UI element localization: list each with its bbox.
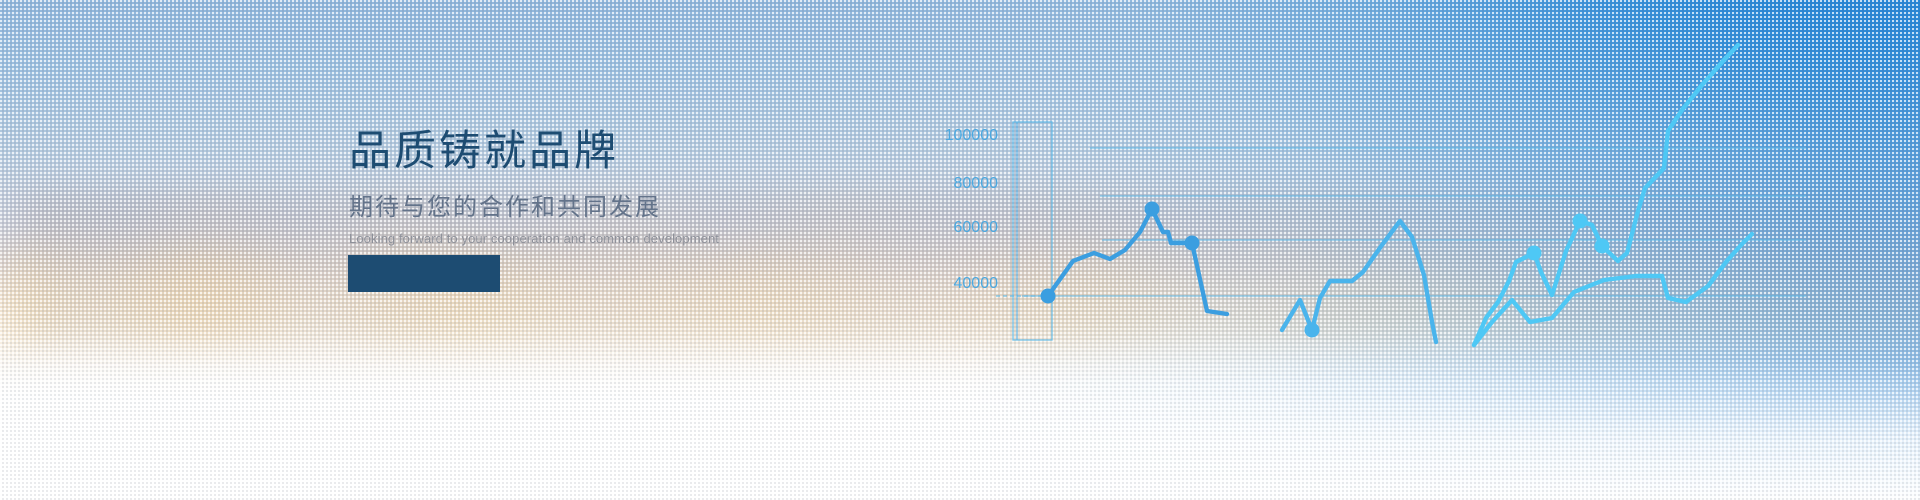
cta-button[interactable] [348, 255, 500, 292]
hero-banner: 100000800006000040000 品质铸就品牌 期待与您的合作和共同发… [0, 0, 1920, 500]
banner-subheadline-cn: 期待与您的合作和共同发展 [349, 195, 989, 221]
banner-headline: 品质铸就品牌 [349, 128, 989, 173]
banner-subheadline-en: Looking forward to your cooperation and … [349, 231, 989, 247]
banner-text-block: 品质铸就品牌 期待与您的合作和共同发展 Looking forward to y… [349, 128, 989, 246]
background-halftone-pattern [0, 0, 1920, 500]
